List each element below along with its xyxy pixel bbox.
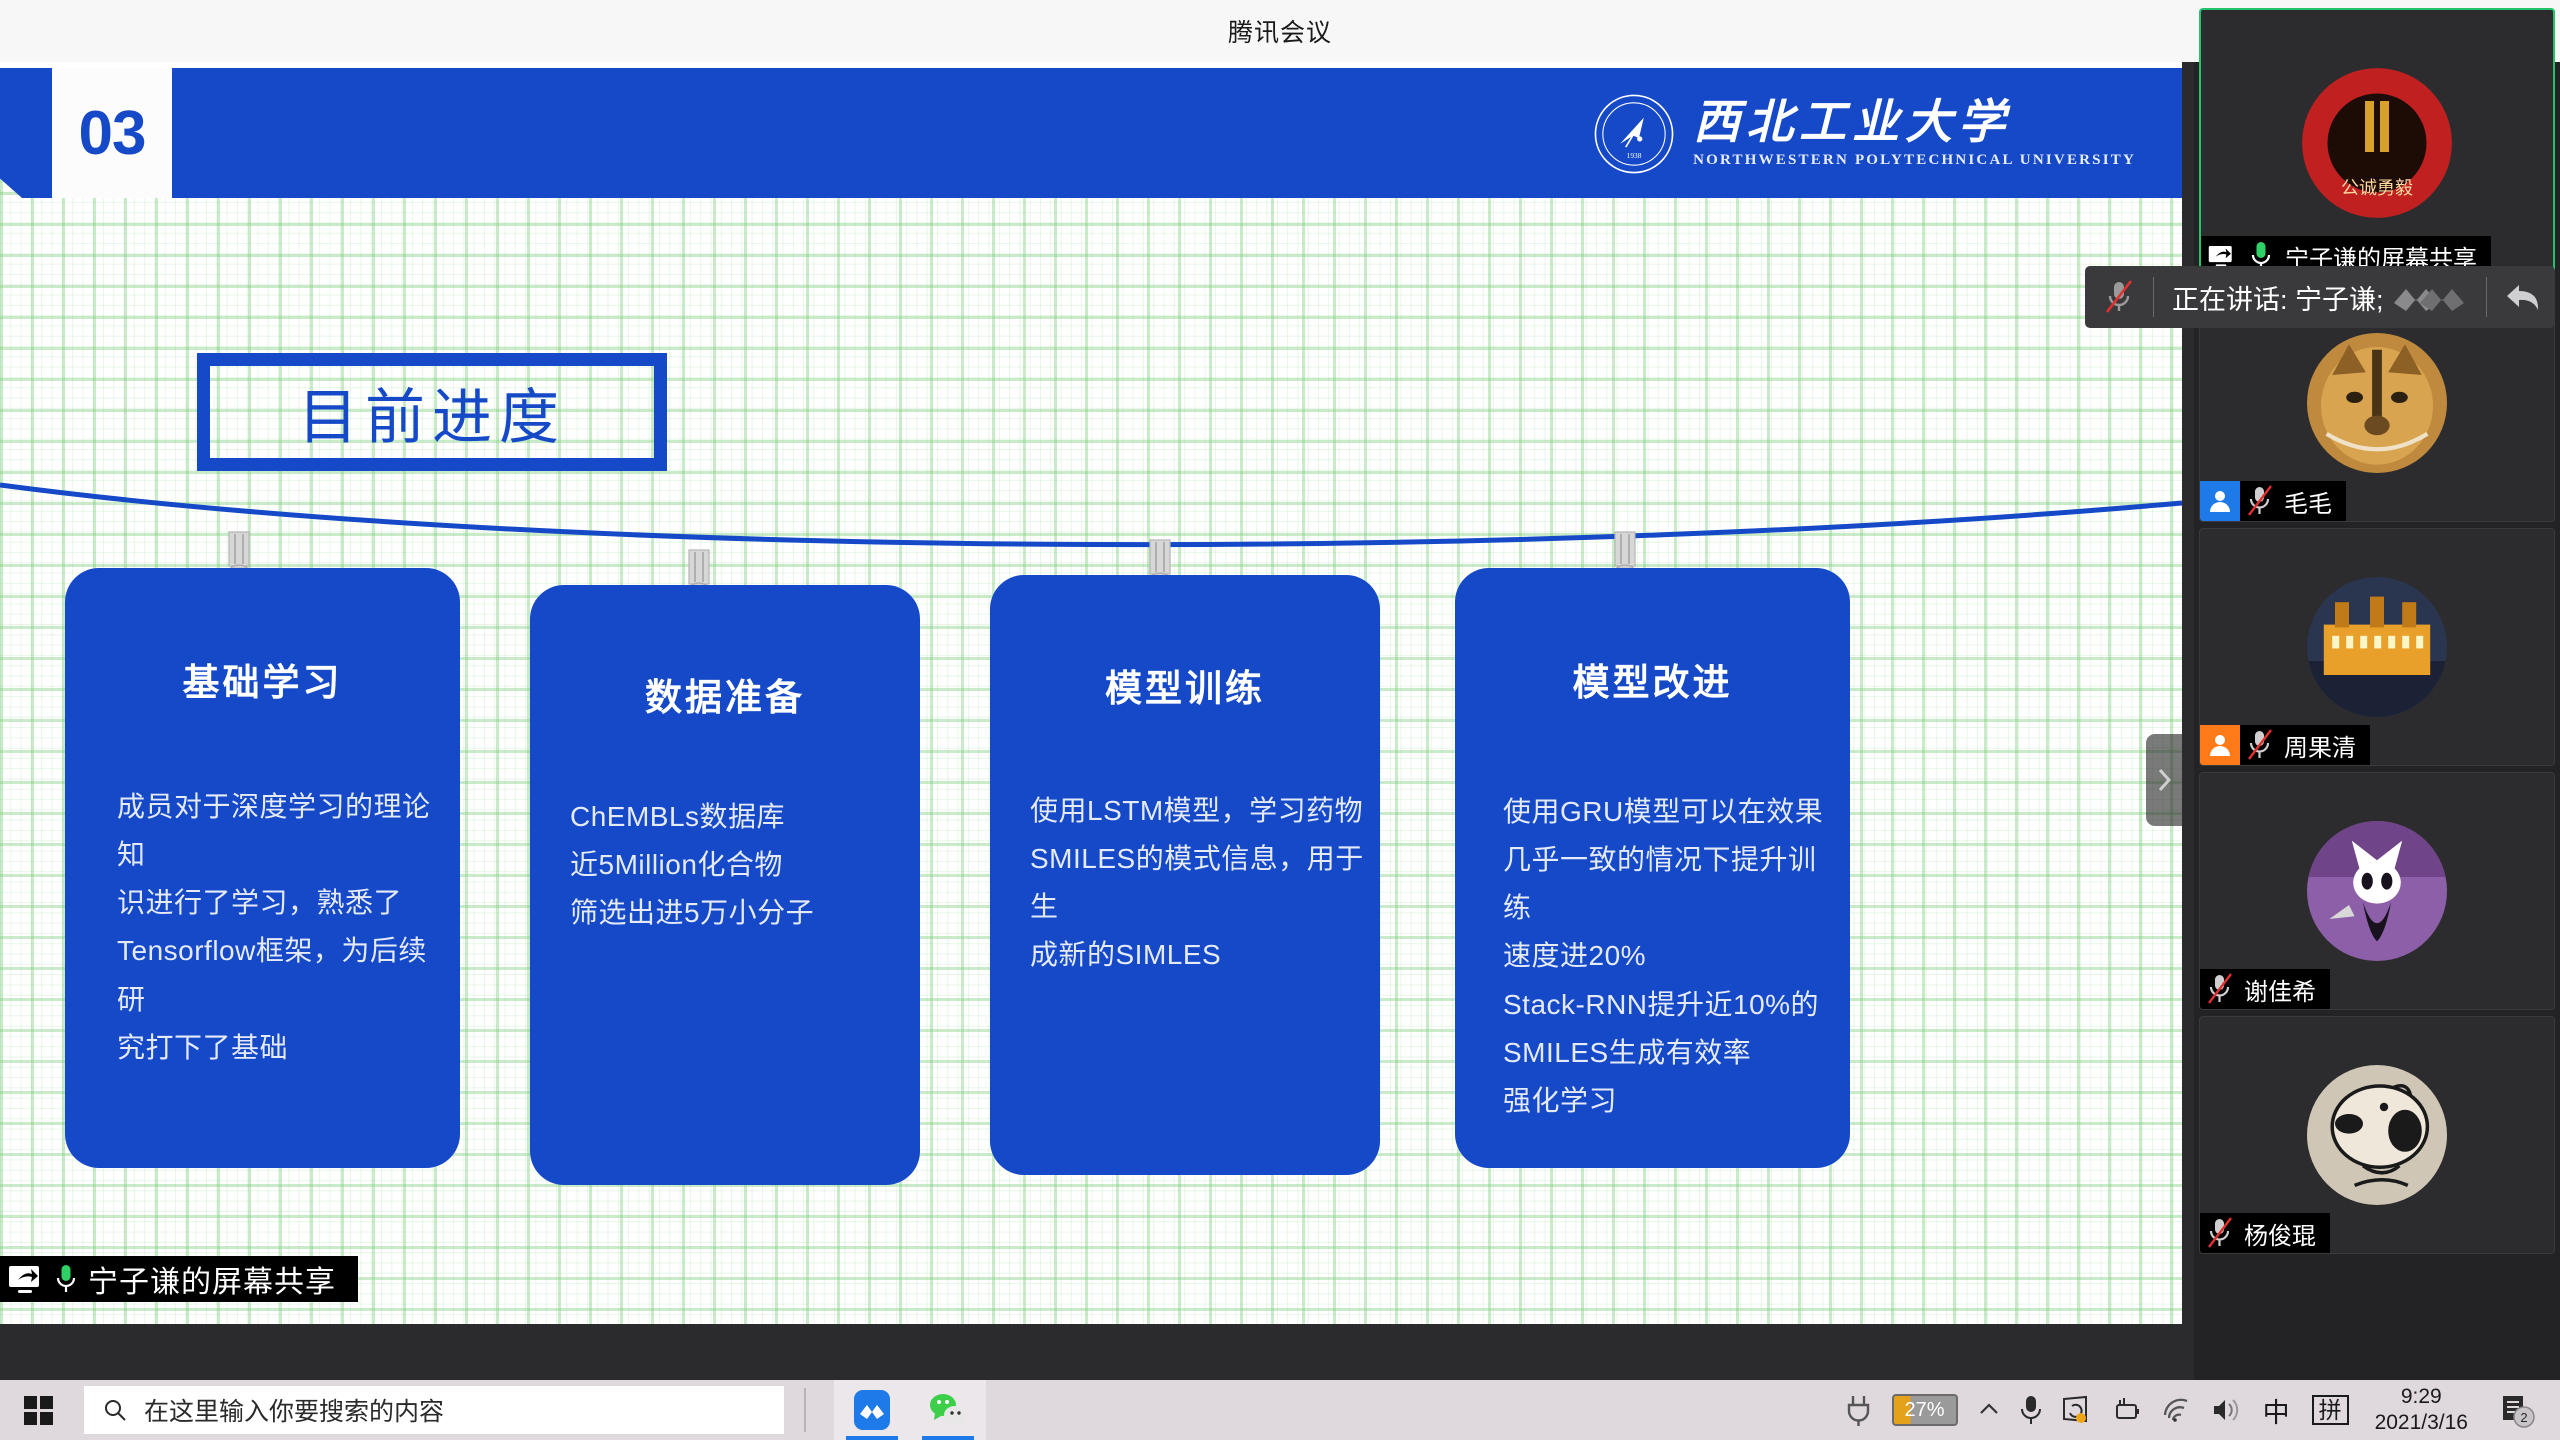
progress-card-line: 几乎一致的情况下提升训练 <box>1503 836 1834 932</box>
progress-card-line: 成新的SIMLES <box>1030 931 1364 979</box>
svg-text:公诚勇毅: 公诚勇毅 <box>2341 178 2413 198</box>
university-name-cn: 西北工业大学 <box>1693 100 2011 147</box>
participant-tile[interactable]: 公诚勇毅宁子谦的屏幕共享 <box>2199 8 2555 278</box>
progress-card-line: 筛选出进5万小分子 <box>570 889 904 937</box>
progress-card-line: 究打下了基础 <box>117 1024 444 1072</box>
speaking-banner: 正在讲话: 宁子谦; <box>2085 266 2555 328</box>
taskbar-app-wechat[interactable] <box>910 1380 986 1440</box>
speaking-label: 正在讲话: 宁子谦; <box>2154 278 2384 317</box>
progress-card: 模型改进使用GRU模型可以在效果几乎一致的情况下提升训练速度进20%Stack-… <box>1455 568 1850 1168</box>
participants-panel[interactable]: 公诚勇毅宁子谦的屏幕共享毛毛周果清谢佳希杨俊琨 <box>2194 62 2560 1380</box>
mic-muted-icon <box>2240 481 2280 521</box>
progress-card-line: SMILES生成有效率 <box>1503 1029 1834 1077</box>
progress-card-line: 速度进20% <box>1503 932 1834 980</box>
progress-card-line: Stack-RNN提升近10%的 <box>1503 981 1834 1029</box>
progress-card-line: 使用GRU模型可以在效果 <box>1503 788 1834 836</box>
screen-share-label: 宁子谦的屏幕共享 <box>0 1256 358 1302</box>
host-badge <box>2200 725 2240 765</box>
app-open-indicator <box>922 1436 974 1440</box>
shared-screen-area: 03 1938 西北工业大学 NORTHWESTERN POLYTECHNICA… <box>0 62 2182 1324</box>
clock-date: 2021/3/16 <box>2375 1410 2468 1436</box>
avatar: 公诚勇毅 <box>2302 68 2452 218</box>
ime-pinyin-indicator[interactable]: 拼 <box>2312 1395 2349 1425</box>
participant-name: 毛毛 <box>2280 484 2346 519</box>
progress-card-body: ChEMBLs数据库近5Million化合物筛选出进5万小分子 <box>570 793 904 937</box>
progress-card-title: 基础学习 <box>65 652 460 706</box>
participant-tile[interactable]: 杨俊琨 <box>2199 1016 2555 1254</box>
windows-start-icon <box>22 1393 56 1427</box>
screen-share-icon <box>6 1262 44 1296</box>
ime-mode-indicator[interactable]: 中 <box>2251 1391 2302 1430</box>
return-arrow-icon[interactable] <box>2501 277 2545 317</box>
battery-indicator[interactable]: 27% <box>1883 1380 1967 1440</box>
banner-divider-2 <box>2486 277 2487 317</box>
screen-capture-icon[interactable] <box>2051 1380 2101 1440</box>
self-badge <box>2200 481 2240 521</box>
mic-muted-icon <box>2205 1215 2235 1251</box>
avatar <box>2307 1065 2447 1205</box>
mic-muted-icon <box>2200 1213 2240 1253</box>
app-open-indicator <box>846 1436 898 1440</box>
mic-on-icon <box>53 1262 79 1296</box>
participant-namebar: 毛毛 <box>2200 481 2346 521</box>
power-plug-icon[interactable] <box>1835 1380 1883 1440</box>
chevron-right-icon <box>2152 763 2176 797</box>
participant-tile[interactable]: 谢佳希 <box>2199 772 2555 1010</box>
volume-icon[interactable] <box>2201 1380 2251 1440</box>
avatar <box>2307 333 2447 473</box>
progress-card-title: 数据准备 <box>530 667 920 721</box>
progress-card-body: 成员对于深度学习的理论知识进行了学习，熟悉了Tensorflow框架，为后续研究… <box>117 783 444 1072</box>
progress-card: 数据准备ChEMBLs数据库近5Million化合物筛选出进5万小分子 <box>530 585 920 1185</box>
search-icon <box>102 1397 128 1423</box>
svg-text:2: 2 <box>2520 1410 2527 1425</box>
windows-taskbar: 在这里输入你要搜索的内容 27% <box>0 1380 2560 1440</box>
battery-saver-icon[interactable] <box>2101 1380 2151 1440</box>
presentation-slide: 03 1938 西北工业大学 NORTHWESTERN POLYTECHNICA… <box>0 68 2182 1324</box>
chevron-up-icon[interactable] <box>1967 1380 2011 1440</box>
university-seal-icon: 1938 <box>1593 93 1675 175</box>
participant-name: 周果清 <box>2280 728 2370 763</box>
progress-card-body: 使用GRU模型可以在效果几乎一致的情况下提升训练速度进20%Stack-RNN提… <box>1503 788 1834 1125</box>
slide-title-box: 目前进度 <box>197 353 667 471</box>
hanging-wire <box>0 463 2182 573</box>
person-icon <box>2207 732 2233 758</box>
participant-tile[interactable]: 周果清 <box>2199 528 2555 766</box>
person-icon <box>2207 488 2233 514</box>
progress-card-title: 模型改进 <box>1455 652 1850 706</box>
progress-card-line: 识进行了学习，熟悉了 <box>117 879 444 927</box>
screen-share-owner: 宁子谦的屏幕共享 <box>88 1257 336 1301</box>
progress-card: 模型训练使用LSTM模型，学习药物SMILES的模式信息，用于生成新的SIMLE… <box>990 575 1380 1175</box>
university-logo: 1938 西北工业大学 NORTHWESTERN POLYTECHNICAL U… <box>1593 90 2136 178</box>
section-number-box: 03 <box>52 68 172 198</box>
system-tray: 27% <box>1835 1380 2560 1440</box>
progress-card-line: 近5Million化合物 <box>570 841 904 889</box>
window-titlebar: 腾讯会议 <box>0 0 2560 62</box>
slide-header: 03 1938 西北工业大学 NORTHWESTERN POLYTECHNICA… <box>0 68 2182 198</box>
notification-center-button[interactable]: 2 <box>2484 1391 2550 1429</box>
university-name-en: NORTHWESTERN POLYTECHNICAL UNIVERSITY <box>1693 152 2136 169</box>
progress-card-body: 使用LSTM模型，学习药物SMILES的模式信息，用于生成新的SIMLES <box>1030 787 1364 980</box>
start-button[interactable] <box>0 1380 78 1440</box>
search-input[interactable]: 在这里输入你要搜索的内容 <box>84 1386 784 1434</box>
wifi-icon[interactable] <box>2151 1380 2201 1440</box>
avatar <box>2307 821 2447 961</box>
tencent-meeting-icon <box>850 1388 894 1432</box>
slide-title: 目前进度 <box>298 369 566 456</box>
clock-time: 9:29 <box>2401 1384 2442 1410</box>
participant-namebar: 杨俊琨 <box>2200 1213 2330 1253</box>
taskbar-app-tencent-meeting[interactable] <box>834 1380 910 1440</box>
mic-muted-icon <box>2200 969 2240 1009</box>
participant-name: 杨俊琨 <box>2240 1216 2330 1251</box>
progress-card-line: ChEMBLs数据库 <box>570 793 904 841</box>
meeting-window: 03 1938 西北工业大学 NORTHWESTERN POLYTECHNICA… <box>0 62 2560 1380</box>
search-placeholder: 在这里输入你要搜索的内容 <box>144 1392 444 1428</box>
taskbar-separator <box>804 1388 806 1432</box>
participant-namebar: 周果清 <box>2200 725 2370 765</box>
window-title: 腾讯会议 <box>1228 13 1332 49</box>
progress-card-line: Tensorflow框架，为后续研 <box>117 927 444 1023</box>
speaking-mic-status <box>2085 277 2153 317</box>
section-number: 03 <box>79 98 146 169</box>
avatar <box>2307 577 2447 717</box>
mic-muted-icon <box>2240 725 2280 765</box>
participant-namebar: 谢佳希 <box>2200 969 2330 1009</box>
progress-card-line: 强化学习 <box>1503 1077 1834 1125</box>
microphone-icon[interactable] <box>2011 1380 2051 1440</box>
mic-muted-icon <box>2205 971 2235 1007</box>
battery-percent: 27% <box>1905 1399 1945 1422</box>
wechat-icon <box>926 1388 970 1432</box>
notification-icon: 2 <box>2498 1391 2536 1429</box>
panel-collapse-handle[interactable] <box>2146 734 2182 826</box>
mic-muted-icon <box>2102 277 2136 317</box>
svg-text:1938: 1938 <box>1627 151 1642 160</box>
progress-card-line: 成员对于深度学习的理论知 <box>117 783 444 879</box>
clock[interactable]: 9:29 2021/3/16 <box>2359 1384 2484 1437</box>
progress-card: 基础学习成员对于深度学习的理论知识进行了学习，熟悉了Tensorflow框架，为… <box>65 568 460 1168</box>
progress-card-title: 模型训练 <box>990 658 1380 712</box>
progress-card-line: 使用LSTM模型，学习药物 <box>1030 787 1364 835</box>
mic-muted-icon <box>2245 483 2275 519</box>
mic-muted-icon <box>2245 727 2275 763</box>
participant-name: 谢佳希 <box>2240 972 2330 1007</box>
tencent-meeting-logo <box>2386 277 2472 317</box>
speaking-banner-right <box>2386 277 2555 317</box>
progress-card-line: SMILES的模式信息，用于生 <box>1030 835 1364 931</box>
